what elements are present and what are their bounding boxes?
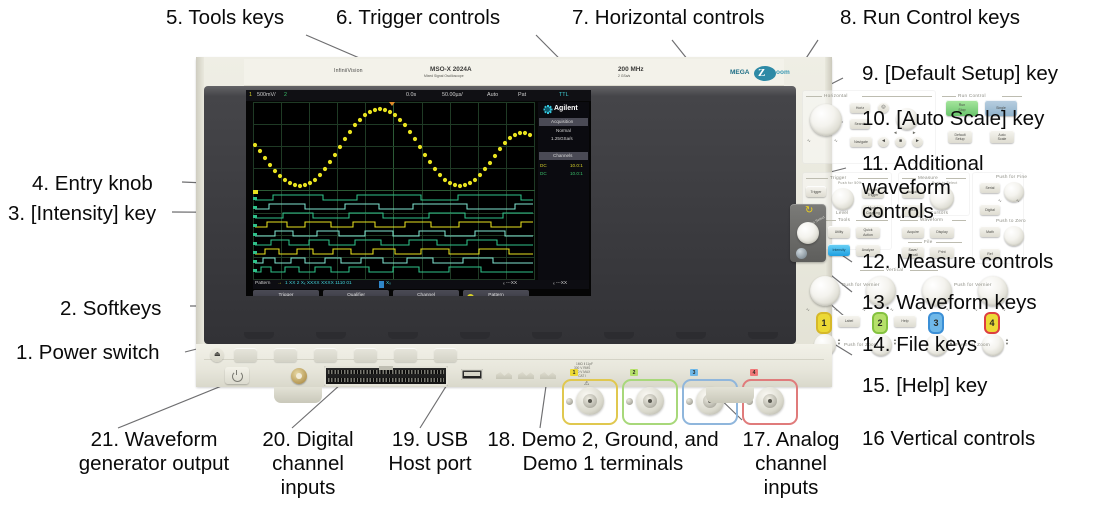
callout-19: 19. USB Host port — [378, 428, 482, 476]
case-left-edge — [196, 57, 204, 387]
channel-3-button[interactable]: 3 — [928, 312, 944, 334]
channel-2-number: 2 — [874, 314, 886, 332]
callout-14: 14. File keys — [862, 333, 977, 357]
status-ch1-number: 1 — [249, 92, 252, 98]
sidebar-ch2-probe: 10.0:1 — [570, 171, 583, 176]
softkey-label-4[interactable]: Pattern 0 — [463, 290, 529, 296]
bnc-tag-2: 2 — [630, 369, 638, 376]
horizontal-scale-knob[interactable] — [810, 104, 842, 136]
pattern-suffix: Xₓ — [386, 281, 391, 286]
ch3-knob-hint: Push for Vernier — [954, 282, 992, 287]
digital-channel-inputs[interactable] — [324, 366, 448, 386]
callout-6: 6. Trigger controls — [336, 6, 500, 30]
callout-5: 5. Tools keys — [166, 6, 284, 30]
callout-11: 11. Additional waveform controls — [862, 152, 1032, 224]
sidebar-ch1-probe: 10.0:1 — [570, 163, 583, 168]
channel-1-button[interactable]: 1 — [816, 312, 832, 334]
next-icon-button[interactable]: ► — [912, 136, 923, 147]
demo-1-terminal[interactable] — [540, 369, 556, 382]
bnc-tag-4: 4 — [750, 369, 758, 376]
megazoom-z: Z — [758, 67, 765, 79]
callout-12: 12. Measure controls — [862, 250, 1053, 274]
callout-9: 9. [Default Setup] key — [862, 62, 1058, 86]
ch1-scale-knob[interactable] — [810, 276, 840, 306]
status-delay: 0.0s — [406, 92, 416, 98]
label-button[interactable]: Label — [838, 315, 860, 327]
utility-button[interactable]: Utility — [828, 226, 850, 238]
pattern-right-1: ₓ ---XX — [503, 281, 517, 286]
callout-4: 4. Entry knob — [32, 172, 153, 196]
math-button[interactable]: Math — [980, 226, 1000, 237]
callout-1: 1. Power switch — [16, 341, 160, 365]
intensity-button[interactable]: Intensity — [828, 244, 850, 256]
softkey-label-2[interactable]: Qualifier Entered — [323, 290, 389, 296]
bnc-tag-1: 1 — [570, 369, 578, 376]
callout-13: 13. Waveform keys — [862, 291, 1037, 315]
sidebar-acq-rate: 1.25GSa/s — [551, 136, 573, 141]
trigger-level-knob[interactable] — [832, 188, 854, 210]
softkey-button-5[interactable] — [394, 348, 417, 362]
help-button[interactable]: Help — [894, 315, 916, 327]
ch1-knob-hint: Push for Vernier — [842, 282, 880, 287]
default-setup-button[interactable]: Default Setup — [948, 130, 972, 143]
callout-7: 7. Horizontal controls — [572, 6, 765, 30]
callout-15: 15. [Help] key — [862, 374, 987, 398]
run-control-group-label: Run Control — [958, 93, 986, 98]
channel-3-number: 3 — [930, 314, 942, 332]
agilent-sunburst-icon — [543, 105, 552, 114]
chassis-separator — [204, 359, 824, 360]
brand-family: InfiniiVision — [334, 68, 363, 74]
callout-16: 16 Vertical controls — [862, 427, 1035, 451]
screen-sidebar: Agilent Acquisition Normal 1.25GSa/s Cha… — [538, 102, 589, 280]
channel-4-button[interactable]: 4 — [984, 312, 1000, 334]
additional-bottom-knob[interactable] — [1004, 226, 1024, 246]
softkey-button-4[interactable] — [354, 348, 377, 362]
prev-icon-button[interactable]: ◄ — [878, 136, 889, 147]
status-logic-family: TTL — [559, 92, 569, 98]
callout-3: 3. [Intensity] key — [8, 202, 156, 226]
file-group-label: File — [924, 239, 933, 244]
softkey-button-2[interactable] — [274, 348, 297, 362]
softkey-2-line1: Qualifier — [323, 293, 389, 296]
usb-host-port[interactable] — [461, 369, 483, 380]
softkey-button-6[interactable] — [434, 348, 457, 362]
trigger-push-label: Push for 50% — [838, 181, 862, 185]
softkey-button-3[interactable] — [314, 348, 337, 362]
pattern-label: Pattern — [255, 281, 270, 286]
pattern-bit-highlight — [379, 281, 384, 288]
ground-terminal[interactable] — [518, 369, 534, 382]
status-trigger-source: Pat — [518, 92, 526, 98]
tools-group-label: Tools — [838, 217, 850, 222]
pattern-status-bar: Pattern → 1 XX 2 Xₓ XXXX XXXX 1110 01 Xₓ… — [253, 280, 589, 289]
eject-icon-button[interactable]: ⏏ — [210, 348, 224, 362]
megazoom-logo: MEGA Z oom — [730, 66, 804, 81]
brand-samplerate: 2 GSa/s — [618, 74, 630, 78]
channel-1-number: 1 — [818, 314, 830, 332]
waveform-generator-output[interactable] — [291, 368, 307, 384]
callout-17: 17. Analog channel inputs — [728, 428, 854, 500]
power-switch[interactable] — [225, 367, 249, 384]
status-ch2-number: 2 — [284, 92, 287, 98]
entry-knob[interactable] — [797, 222, 819, 244]
callout-20: 20. Digital channel inputs — [244, 428, 372, 500]
callout-10: 10. [Auto Scale] key — [862, 107, 1044, 131]
sidebar-ch1-coupling: DC — [540, 163, 547, 168]
quick-action-button[interactable]: Quick Action — [856, 226, 880, 238]
pattern-arrow: → — [277, 281, 282, 286]
channel-4-number: 4 — [986, 314, 998, 332]
status-trigger-mode: Auto — [487, 92, 498, 98]
sidebar-vendor: Agilent — [554, 105, 578, 112]
navigate-button[interactable]: Navigate — [850, 136, 872, 147]
bnc-tag-3: 3 — [690, 369, 698, 376]
stop-icon-button[interactable]: ■ — [895, 136, 906, 147]
sidebar-ch2-coupling: DC — [540, 171, 547, 176]
softkey-button-1[interactable] — [234, 348, 257, 362]
brand-model-sub: Mixed Signal Oscilloscope — [424, 74, 464, 78]
megazoom-right: oom — [776, 69, 790, 76]
oscilloscope-front-panel: InfiniiVision MSO-X 2024A Mixed Signal O… — [196, 57, 832, 387]
analog-channel-1-bnc[interactable] — [562, 379, 618, 425]
pattern-bits: 1 XX 2 Xₓ XXXX XXXX 1110 01 — [285, 281, 352, 286]
callout-18: 18. Demo 2, Ground, and Demo 1 terminals — [486, 428, 720, 476]
brand-model: MSO-X 2024A — [430, 66, 472, 73]
display-button[interactable]: Display — [930, 226, 954, 238]
brand-bandwidth: 200 MHz — [618, 66, 644, 73]
entry-rotate-icon: ↻ — [805, 206, 813, 216]
waveform-traces — [253, 102, 535, 280]
status-ch1-scale: 500mV/ — [257, 92, 276, 98]
demo-2-terminal[interactable] — [496, 369, 512, 382]
trigger-group-label: Trigger — [830, 175, 846, 180]
acquire-button[interactable]: Acquire — [902, 226, 924, 238]
pattern-right-2: ₓ ---XX — [553, 281, 567, 286]
callout-diagram: InfiniiVision MSO-X 2024A Mixed Signal O… — [0, 0, 1100, 532]
status-timebase: 50.00µs/ — [442, 92, 463, 98]
screen-status-bar: 1 500mV/ 2 0.0s 50.00µs/ Auto Pat TTL — [246, 90, 591, 101]
horizontal-group-label: Horizontal — [824, 93, 848, 98]
softkey-label-1[interactable]: Trigger Pattern — [253, 290, 319, 296]
brand-strip: InfiniiVision MSO-X 2024A Mixed Signal O… — [244, 59, 784, 86]
bezel-notches — [204, 329, 796, 344]
softkey-4-line1: Pattern — [463, 293, 529, 296]
right-foot — [706, 387, 754, 403]
callout-21: 21. Waveform generator output — [68, 428, 240, 476]
trigger-button[interactable]: Trigger — [806, 186, 826, 197]
callout-8: 8. Run Control keys — [840, 6, 1020, 30]
trigger-level-label: Level — [836, 210, 848, 215]
intensity-indicator-icon — [796, 248, 807, 259]
softkey-1-line1: Trigger — [253, 293, 319, 296]
softkey-label-3[interactable]: Channel D0 — [393, 290, 459, 296]
analog-channel-2-bnc[interactable] — [622, 379, 678, 425]
left-foot — [274, 387, 322, 403]
megazoom-left: MEGA — [730, 69, 750, 76]
screen-softkey-labels: Trigger Pattern Qualifier Entered Channe… — [253, 290, 589, 296]
softkey-3-line1: Channel — [393, 293, 459, 296]
sidebar-channels-header: Channels — [553, 153, 572, 158]
lcd-screen[interactable]: 1 500mV/ 2 0.0s 50.00µs/ Auto Pat TTL — [246, 90, 591, 296]
callout-2: 2. Softkeys — [60, 297, 161, 321]
channel-2-button[interactable]: 2 — [872, 312, 888, 334]
auto-scale-button[interactable]: Auto Scale — [990, 130, 1014, 143]
sidebar-acquisition-header: Acquisition — [551, 119, 573, 124]
sidebar-acq-mode: Normal — [556, 128, 571, 133]
